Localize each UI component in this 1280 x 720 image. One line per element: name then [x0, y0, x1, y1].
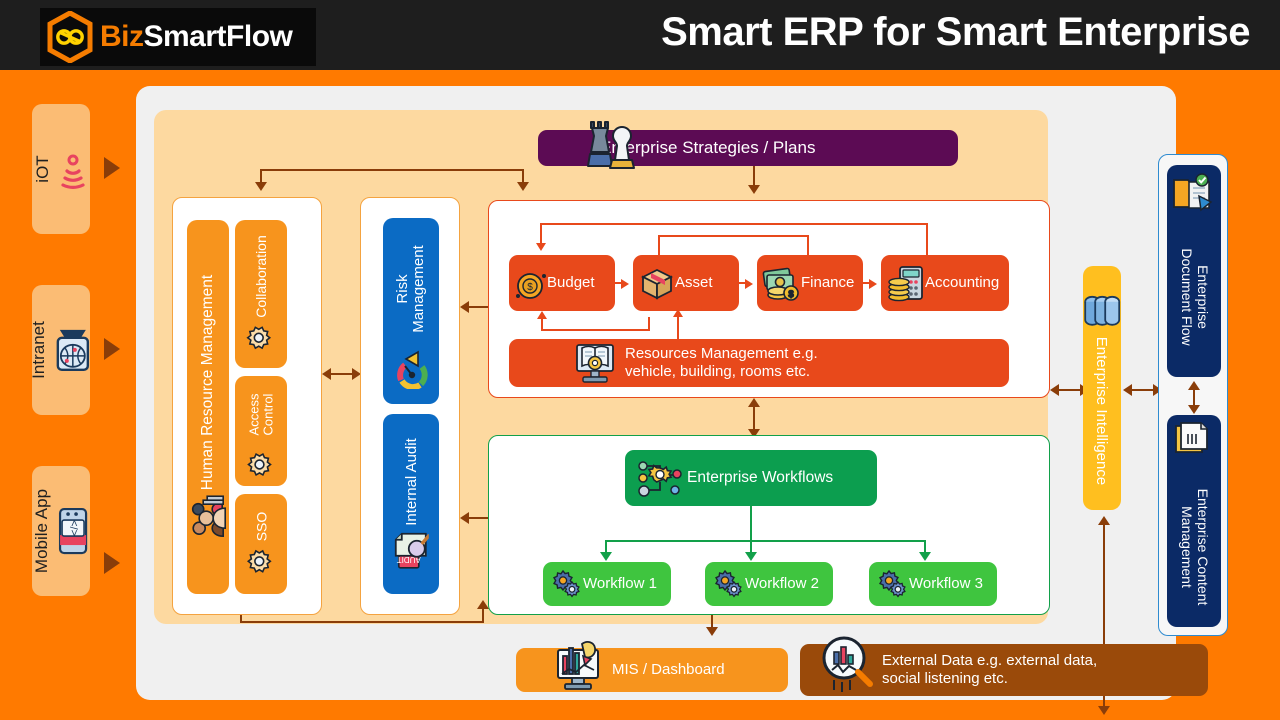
- workflow-2-card[interactable]: Workflow 2: [705, 562, 833, 606]
- external-data-line2: social listening etc.: [882, 670, 1008, 688]
- app-header: BizSmartFlow Smart ERP for Smart Enterpr…: [0, 0, 1280, 74]
- rail-item-label: Intranet: [29, 321, 49, 379]
- resources-bar: [541, 329, 649, 331]
- internal-audit-card[interactable]: AUDIT Internal Audit: [383, 414, 439, 594]
- arrow-down-workflow-3: [919, 552, 931, 561]
- enterprise-document-flow-card[interactable]: Enterprise Document Flow: [1167, 165, 1221, 377]
- workflow-tree-stem: [750, 506, 752, 540]
- asset-label: Asset: [675, 274, 713, 292]
- finance-mid-bar: [658, 235, 808, 237]
- asset-card[interactable]: Asset: [633, 255, 739, 311]
- enterprise-strategies-card[interactable]: Enterprise Strategies / Plans: [538, 130, 958, 166]
- connector-strategy-bar: [260, 169, 524, 171]
- calculator-coins-icon: [886, 264, 926, 304]
- page-title: Smart ERP for Smart Enterprise: [661, 10, 1250, 55]
- svg-text:$: $: [527, 282, 533, 293]
- arrow-down-mis: [706, 627, 718, 636]
- connector-bottom-bar: [240, 621, 484, 623]
- human-resource-management-label: Human Resource Management: [199, 275, 217, 490]
- mobile-code-icon: </>: [56, 507, 90, 555]
- enterprise-intelligence-label: Enterprise Intelligence: [1094, 337, 1111, 485]
- folder-documents-icon: [1171, 172, 1217, 214]
- magnifier-chart-icon: [818, 632, 874, 694]
- people-group-icon: [189, 495, 227, 539]
- logo-text-smart: Smart: [144, 20, 227, 53]
- logo-text: BizSmartFlow: [100, 20, 292, 54]
- enterprise-content-management-line2: Management: [1179, 506, 1195, 588]
- workflow-1-label: Workflow 1: [583, 575, 657, 593]
- workflow-panel: Enterprise Workflows Workflow 1: [488, 435, 1050, 615]
- external-data-line1: External Data e.g. external data,: [882, 652, 1097, 670]
- finance-stem-finance: [807, 235, 809, 257]
- rail-arrow-mobile-app: [104, 552, 120, 574]
- enterprise-document-flow-line1: Enterprise: [1195, 265, 1211, 329]
- workflow-2-label: Workflow 2: [745, 575, 819, 593]
- enterprise-content-management-line1: Enterprise Content: [1195, 489, 1211, 606]
- enterprise-content-management-card[interactable]: Enterprise Content Management: [1167, 415, 1221, 627]
- access-control-card[interactable]: Access Control: [235, 376, 287, 486]
- arrow-down-external: [1098, 706, 1110, 715]
- finance-card[interactable]: $ Finance: [757, 255, 863, 311]
- diagram-stage: Enterprise Strategies / Plans Human Reso…: [136, 86, 1176, 700]
- cash-money-icon: $: [761, 265, 801, 303]
- core-board: Enterprise Strategies / Plans Human Reso…: [154, 110, 1048, 624]
- svg-text:$: $: [788, 289, 793, 299]
- workflow-tree-bar: [605, 540, 925, 542]
- hr-panel: Human Resource Management Collaboration: [172, 197, 322, 615]
- wifi-signal-icon: [57, 147, 89, 191]
- risk-management-card[interactable]: Risk Management: [383, 218, 439, 404]
- dashboard-chart-icon: [552, 634, 604, 694]
- human-resource-management-card[interactable]: Human Resource Management: [187, 220, 229, 594]
- accounting-card[interactable]: Accounting: [881, 255, 1009, 311]
- finance-stem-asset: [658, 235, 660, 257]
- sso-card[interactable]: SSO: [235, 494, 287, 594]
- finance-top-bar: [540, 223, 928, 225]
- arrow-down-content-mgmt: [1188, 405, 1200, 414]
- resources-stem-right: [648, 317, 650, 331]
- arrow-left-hr: [322, 368, 331, 380]
- mis-dashboard-card[interactable]: MIS / Dashboard: [516, 648, 788, 692]
- rail-arrow-intranet: [104, 338, 120, 360]
- infinity-hexagon-icon: [46, 11, 94, 63]
- risk-management-label: Risk Management: [395, 233, 427, 345]
- arrow-down-workflow-1: [600, 552, 612, 561]
- enterprise-document-flow-line2: Document Flow: [1179, 248, 1195, 345]
- arrow-down-workflow-2: [745, 552, 757, 561]
- rail-item-intranet[interactable]: Intranet: [32, 285, 90, 415]
- gear-icon: [246, 323, 276, 353]
- documents-panel: Enterprise Document Flow Enterprise Cont…: [1158, 154, 1228, 636]
- connector-bottom-right-stem: [482, 608, 484, 622]
- connector-intelligence-docs: [1129, 389, 1155, 391]
- arrow-down-budget: [536, 243, 546, 251]
- network-globe-icon: [53, 327, 93, 373]
- audit-magnifier-icon: AUDIT: [393, 530, 429, 570]
- arrow-up-asset-res: [673, 309, 683, 317]
- gear-icon: [246, 450, 276, 480]
- resources-management-line1: Resources Management e.g.: [625, 345, 818, 363]
- workflow-3-label: Workflow 3: [909, 575, 983, 593]
- rail-item-mobile-app[interactable]: </> Mobile App: [32, 466, 90, 596]
- finance-panel: $ Budget Asset: [488, 200, 1050, 398]
- arrow-up-budget-res: [537, 311, 547, 319]
- resources-management-card[interactable]: Resources Management e.g. vehicle, build…: [509, 339, 1009, 387]
- sso-label: SSO: [253, 512, 269, 542]
- budget-label: Budget: [547, 274, 595, 292]
- rail-item-label: Mobile App: [32, 489, 52, 573]
- arrow-left-board: [1050, 384, 1059, 396]
- database-stack-icon: [1082, 294, 1122, 328]
- external-data-card[interactable]: External Data e.g. external data, social…: [800, 644, 1208, 696]
- document-stack-icon: [1171, 418, 1217, 458]
- risk-gauge-icon: [394, 349, 428, 389]
- arrow-up-finance-wf: [748, 398, 760, 407]
- arrow-left-risk-fin: [460, 301, 469, 313]
- logo: BizSmartFlow: [40, 8, 316, 66]
- gears-icon: [713, 570, 743, 600]
- logo-text-flow: Flow: [226, 20, 292, 53]
- accounting-label: Accounting: [925, 274, 999, 292]
- budget-coin-icon: $: [513, 265, 551, 303]
- resources-stem-left: [541, 317, 543, 331]
- arrow-left-intelligence: [1123, 384, 1132, 396]
- arrow-left-risk-wf: [460, 512, 469, 524]
- budget-card[interactable]: $ Budget: [509, 255, 615, 311]
- connector-board-intelligence: [1056, 389, 1082, 391]
- arrow-down-hr: [255, 182, 267, 191]
- enterprise-workflows-card[interactable]: Enterprise Workflows: [625, 450, 877, 506]
- chess-pieces-icon: [582, 116, 638, 174]
- finance-stem-budget-line: [540, 223, 542, 245]
- arrow-up-doc-flow: [1188, 381, 1200, 390]
- internal-audit-label: Internal Audit: [403, 438, 420, 526]
- collaboration-card[interactable]: Collaboration: [235, 220, 287, 368]
- rail-item-iot[interactable]: iOT: [32, 104, 90, 234]
- arrow-finance-to-accounting: [869, 279, 877, 289]
- mis-dashboard-label: MIS / Dashboard: [612, 661, 725, 679]
- risk-panel: Risk Management AUDIT Internal Audit: [360, 197, 460, 615]
- workflow-1-card[interactable]: Workflow 1: [543, 562, 671, 606]
- finance-label: Finance: [801, 274, 854, 292]
- arrow-up-intelligence-ext: [1098, 516, 1110, 525]
- collaboration-label: Collaboration: [253, 235, 269, 318]
- workflow-nodes-icon: [635, 458, 685, 500]
- gear-icon: [246, 546, 276, 576]
- resources-management-line2: vehicle, building, rooms etc.: [625, 363, 810, 381]
- rail-arrow-iot: [104, 157, 120, 179]
- workflow-3-card[interactable]: Workflow 3: [869, 562, 997, 606]
- connector-hr-risk: [328, 373, 354, 375]
- svg-text:</>: </>: [69, 520, 81, 536]
- enterprise-intelligence-card[interactable]: Enterprise Intelligence: [1083, 266, 1121, 510]
- arrow-down-risk: [517, 182, 529, 191]
- arrow-down-finance: [748, 185, 760, 194]
- access-control-label: Access Control: [247, 383, 274, 447]
- resources-stem-mid: [677, 314, 679, 342]
- box-package-icon: [639, 266, 675, 300]
- finance-stem-accounting: [926, 223, 928, 257]
- gears-icon: [877, 570, 907, 600]
- arrow-asset-to-finance: [745, 279, 753, 289]
- gears-icon: [551, 570, 581, 600]
- connector-finance-workflow: [753, 405, 755, 431]
- connector-docs-inner: [1193, 387, 1195, 407]
- rail-item-label: iOT: [33, 155, 53, 182]
- enterprise-workflows-label: Enterprise Workflows: [687, 469, 833, 488]
- logo-text-biz: Biz: [100, 20, 144, 53]
- book-gear-monitor-icon: [571, 341, 619, 385]
- arrow-budget-to-asset: [621, 279, 629, 289]
